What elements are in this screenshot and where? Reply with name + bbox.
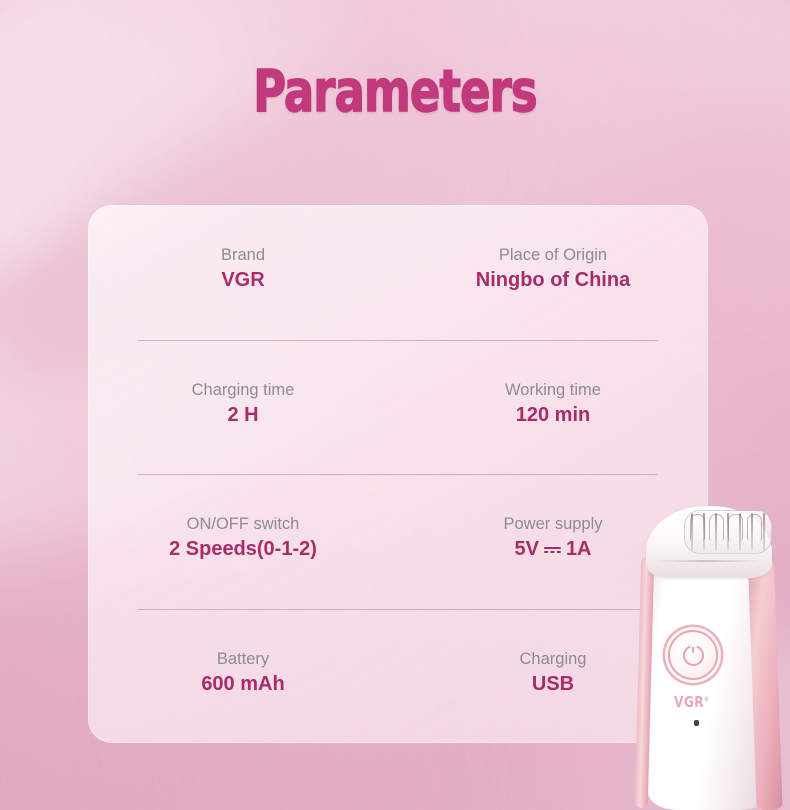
spec-label: Battery	[217, 650, 269, 669]
table-row: Brand VGR Place of Origin Ningbo of Chin…	[88, 205, 708, 340]
spec-value: USB	[532, 673, 574, 696]
power-symbol-glyph	[683, 645, 704, 666]
power-voltage: 5V	[514, 538, 538, 561]
parameters-card: Brand VGR Place of Origin Ningbo of Chin…	[88, 205, 708, 743]
power-button-icon[interactable]	[668, 630, 718, 680]
spec-value: 2 H	[227, 404, 258, 427]
spec-label: Brand	[221, 246, 265, 265]
power-current: 1A	[566, 538, 592, 561]
device-head-seam	[652, 560, 762, 562]
spec-label: Place of Origin	[499, 246, 607, 265]
spec-value: 600 mAh	[201, 673, 284, 696]
device-brand-logo: VGR®	[674, 693, 709, 711]
device-brand-text: VGR	[674, 693, 704, 711]
spec-cell-charging-time: Charging time 2 H	[88, 340, 398, 475]
spec-label: Power supply	[503, 515, 602, 534]
product-image-epilator: VGR®	[628, 498, 790, 810]
spec-value: 120 min	[516, 404, 590, 427]
spec-cell-onoff-switch: ON/OFF switch 2 Speeds(0-1-2)	[88, 474, 398, 609]
spec-cell-working-time: Working time 120 min	[398, 340, 708, 475]
spec-cell-brand: Brand VGR	[88, 205, 398, 340]
page-title: Parameters	[55, 62, 734, 120]
epilator-tweezer-cap	[684, 510, 772, 554]
device-brand-reg-mark: ®	[704, 696, 709, 703]
spec-cell-battery: Battery 600 mAh	[88, 609, 398, 744]
led-indicator-icon	[694, 720, 699, 726]
spec-label: Charging	[520, 650, 587, 669]
spec-value-power: 5V 1A	[514, 538, 591, 561]
dc-power-icon	[544, 543, 561, 556]
spec-value: VGR	[221, 269, 264, 292]
spec-cell-place-of-origin: Place of Origin Ningbo of China	[398, 205, 708, 340]
table-row: Battery 600 mAh Charging USB	[88, 609, 708, 744]
spec-value: Ningbo of China	[476, 269, 630, 292]
table-row: ON/OFF switch 2 Speeds(0-1-2) Power supp…	[88, 474, 708, 609]
spec-label: Working time	[505, 381, 601, 400]
epilator-head-icon	[646, 506, 772, 578]
spec-value: 2 Speeds(0-1-2)	[169, 538, 317, 561]
spec-label: ON/OFF switch	[187, 515, 300, 534]
spec-label: Charging time	[192, 381, 295, 400]
spec-table: Brand VGR Place of Origin Ningbo of Chin…	[88, 205, 708, 743]
table-row: Charging time 2 H Working time 120 min	[88, 340, 708, 475]
